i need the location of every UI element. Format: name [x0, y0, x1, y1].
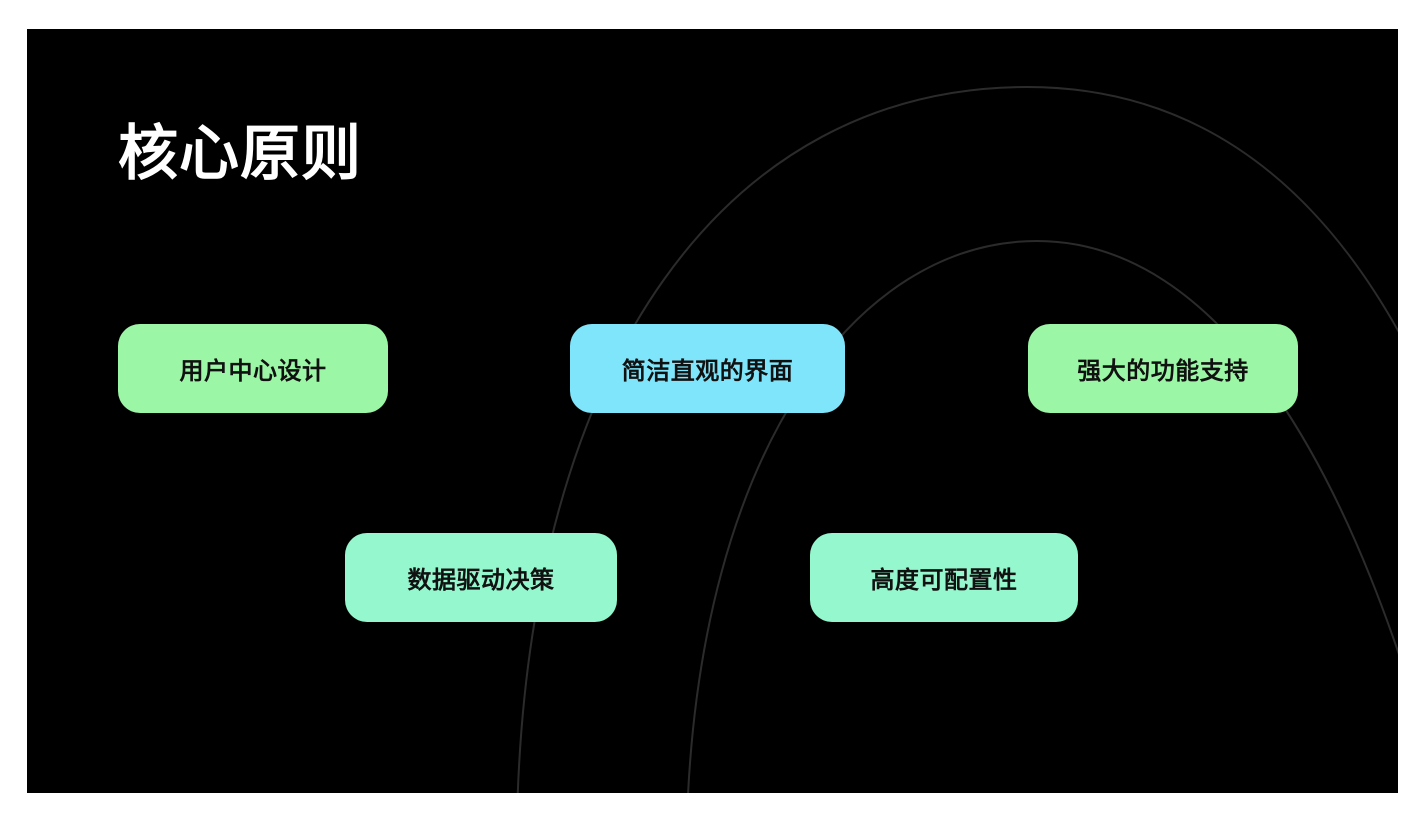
principle-pill-powerful-feature-support[interactable]: 强大的功能支持 — [1028, 324, 1298, 413]
principle-pill-high-configurability[interactable]: 高度可配置性 — [810, 533, 1078, 622]
principle-pill-label: 强大的功能支持 — [1077, 351, 1249, 386]
principle-pill-clean-intuitive-interface[interactable]: 简洁直观的界面 — [570, 324, 845, 413]
principle-pill-label: 简洁直观的界面 — [622, 351, 794, 386]
page-title: 核心原则 — [118, 119, 362, 188]
principle-pill-data-driven-decisions[interactable]: 数据驱动决策 — [345, 533, 617, 622]
slide-canvas: 核心原则 用户中心设计 简洁直观的界面 强大的功能支持 数据驱动决策 高度可配置… — [27, 29, 1398, 793]
principle-pill-label: 数据驱动决策 — [408, 560, 555, 595]
principle-pill-user-centered-design[interactable]: 用户中心设计 — [118, 324, 388, 413]
principle-pill-label: 用户中心设计 — [180, 351, 327, 386]
background-arc-outer — [517, 87, 1398, 793]
principle-pill-label: 高度可配置性 — [871, 560, 1018, 595]
